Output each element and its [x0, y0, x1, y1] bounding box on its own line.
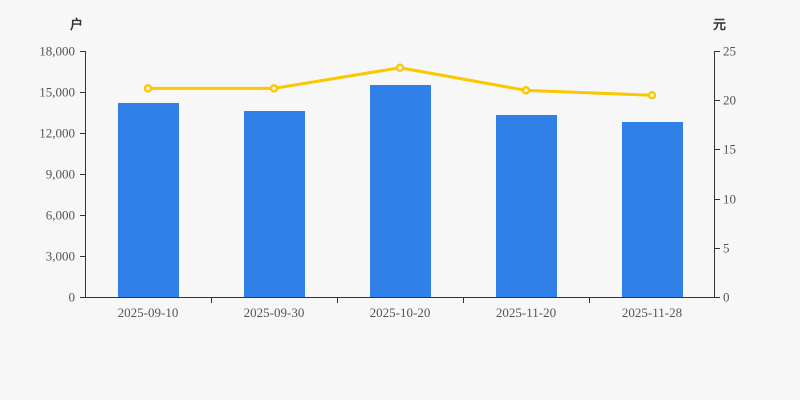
left-tick-label: 3,000 [46, 250, 75, 263]
right-axis-unit-label: 元 [713, 14, 726, 33]
x-tick-mark [463, 298, 464, 303]
x-tick-mark [211, 298, 212, 303]
x-tick-label: 2025-10-20 [370, 306, 431, 319]
x-tick-label: 2025-09-10 [118, 306, 179, 319]
right-tick-mark [715, 100, 720, 101]
line-marker[interactable]: 2025-10-20: 23.3 元 [397, 65, 403, 71]
x-tick-label: 2025-11-20 [496, 306, 556, 319]
bar[interactable] [370, 85, 431, 297]
left-tick-mark [80, 133, 85, 134]
chart-container: 户 元 03,0006,0009,00012,00015,00018,000 0… [0, 0, 800, 400]
left-tick-label: 15,000 [39, 86, 75, 99]
left-tick-label: 6,000 [46, 209, 75, 222]
bar[interactable] [496, 115, 557, 297]
right-y-axis [714, 51, 715, 298]
left-tick-mark [80, 174, 85, 175]
line-marker[interactable]: 2025-11-20: 21 元 [523, 87, 529, 93]
right-tick-mark [715, 297, 720, 298]
right-tick-label: 15 [723, 143, 736, 156]
bar[interactable] [118, 103, 179, 297]
line-marker[interactable]: 2025-09-10: 21.2 元 [145, 85, 151, 91]
left-tick-label: 9,000 [46, 168, 75, 181]
left-tick-mark [80, 256, 85, 257]
line-marker[interactable]: 2025-11-28: 20.5 元 [649, 92, 655, 98]
right-tick-label: 5 [723, 241, 730, 254]
x-axis [85, 297, 715, 298]
left-axis-unit-label: 户 [70, 14, 83, 33]
right-tick-label: 25 [723, 45, 736, 58]
right-tick-label: 20 [723, 94, 736, 107]
left-tick-label: 18,000 [39, 45, 75, 58]
x-tick-label: 2025-09-30 [244, 306, 305, 319]
line-marker[interactable]: 2025-09-30: 21.2 元 [271, 85, 277, 91]
left-y-axis [85, 51, 86, 298]
right-tick-mark [715, 51, 720, 52]
bar[interactable] [622, 122, 683, 297]
left-tick-label: 0 [69, 291, 76, 304]
right-tick-mark [715, 248, 720, 249]
left-tick-label: 12,000 [39, 127, 75, 140]
left-tick-mark [80, 92, 85, 93]
left-tick-mark [80, 215, 85, 216]
left-tick-mark [80, 297, 85, 298]
right-tick-mark [715, 199, 720, 200]
x-tick-label: 2025-11-28 [622, 306, 682, 319]
left-tick-mark [80, 51, 85, 52]
bar[interactable] [244, 111, 305, 297]
right-tick-label: 0 [723, 291, 730, 304]
x-tick-mark [337, 298, 338, 303]
right-tick-mark [715, 149, 720, 150]
x-tick-mark [589, 298, 590, 303]
right-tick-label: 10 [723, 192, 736, 205]
